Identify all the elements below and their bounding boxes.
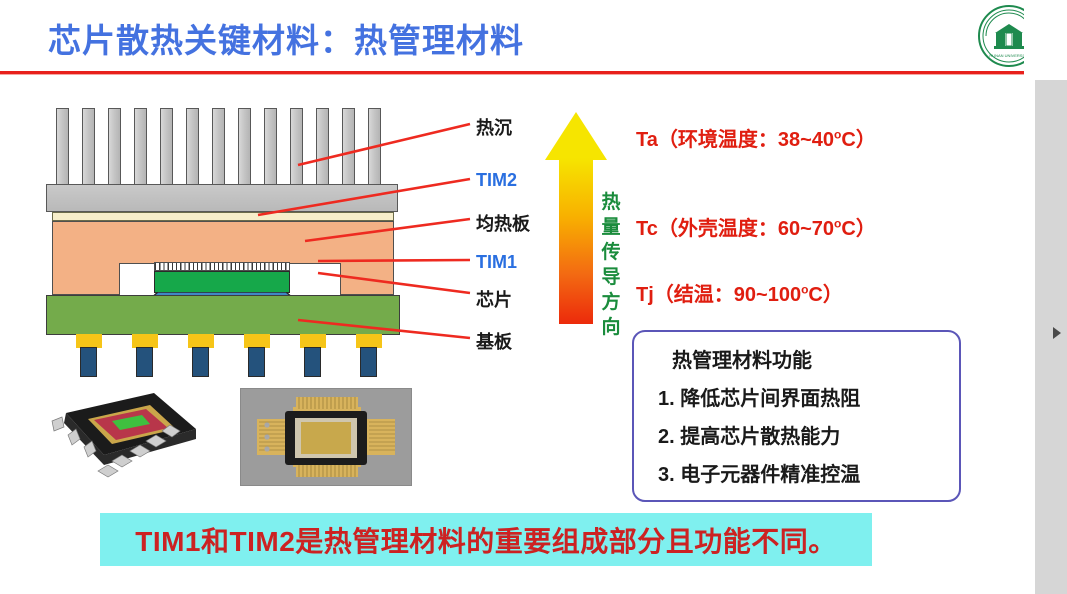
heatsink-fin bbox=[368, 108, 381, 186]
heatsink-fin bbox=[316, 108, 329, 186]
heatsink-fin bbox=[82, 108, 95, 186]
pin-shoulder bbox=[76, 334, 102, 348]
temp-junction-value: 90~100 bbox=[734, 284, 801, 306]
pin-shoulder bbox=[356, 334, 382, 348]
summary-banner: TIM1和TIM2是热管理材料的重要组成部分且功能不同。 bbox=[100, 513, 872, 566]
function-item-1: 1. 降低芯片间界面热阻 bbox=[658, 382, 860, 411]
slide-canvas: 芯片散热关键材料：热管理材料 HUNAN UNIVERSITY bbox=[0, 0, 1024, 594]
temp-ambient-value: 38~40 bbox=[778, 129, 834, 151]
heatsink-fin bbox=[108, 108, 121, 186]
label-spreader: 均热板 bbox=[476, 210, 530, 236]
heatsink-fin bbox=[186, 108, 199, 186]
temp-junction-desc: （结温： bbox=[654, 284, 734, 306]
title-divider bbox=[0, 71, 1024, 75]
summary-banner-text: TIM1和TIM2是热管理材料的重要组成部分且功能不同。 bbox=[135, 520, 837, 560]
temp-case-desc: （外壳温度： bbox=[658, 218, 778, 240]
soic-package-photo bbox=[46, 383, 214, 488]
heatsink-fin bbox=[238, 108, 251, 186]
pin-lead bbox=[304, 347, 321, 377]
label-substrate: 基板 bbox=[476, 328, 512, 354]
function-box: 热管理材料功能 1. 降低芯片间界面热阻 2. 提高芯片散热能力 3. 电子元器… bbox=[632, 330, 961, 502]
svg-text:HUNAN UNIVERSITY: HUNAN UNIVERSITY bbox=[989, 53, 1024, 58]
page-title: 芯片散热关键材料：热管理材料 bbox=[48, 14, 524, 62]
pin-shoulder bbox=[188, 334, 214, 348]
chip-package-cross-section bbox=[46, 108, 436, 373]
temp-ambient: Ta（环境温度：38~40oC） bbox=[636, 123, 876, 152]
pin-shoulder bbox=[132, 334, 158, 348]
temp-case-value: 60~70 bbox=[778, 218, 834, 240]
university-seal-logo: HUNAN UNIVERSITY bbox=[976, 3, 1024, 69]
label-tim2: TIM2 bbox=[476, 170, 517, 191]
heatsink-fin bbox=[134, 108, 147, 186]
heatsink-fin bbox=[212, 108, 225, 186]
heatsink-fin bbox=[160, 108, 173, 186]
ceramic-flat-package-photo bbox=[240, 388, 412, 486]
right-side-panel bbox=[1024, 0, 1067, 594]
label-tim1: TIM1 bbox=[476, 252, 517, 273]
temp-junction-symbol: Tj bbox=[636, 284, 654, 306]
pin-lead bbox=[136, 347, 153, 377]
temp-junction-suffix: C） bbox=[808, 284, 842, 306]
label-heat-sink: 热沉 bbox=[476, 114, 512, 140]
arrow-head bbox=[545, 112, 607, 160]
temp-ambient-symbol: Ta bbox=[636, 129, 658, 151]
arrow-shaft bbox=[559, 158, 593, 324]
heatsink-fin bbox=[290, 108, 303, 186]
temp-junction: Tj（结温：90~100oC） bbox=[636, 278, 843, 307]
temp-case-symbol: Tc bbox=[636, 218, 658, 240]
temp-ambient-desc: （环境温度： bbox=[658, 129, 778, 151]
heatsink-fin bbox=[342, 108, 355, 186]
temp-case-suffix: C） bbox=[841, 218, 875, 240]
function-item-2: 2. 提高芯片散热能力 bbox=[658, 420, 840, 449]
pin-lead bbox=[248, 347, 265, 377]
pin-shoulder bbox=[244, 334, 270, 348]
pin-lead bbox=[192, 347, 209, 377]
temp-ambient-suffix: C） bbox=[841, 129, 875, 151]
substrate-layer bbox=[46, 295, 400, 335]
tim1-layer bbox=[154, 262, 290, 271]
pin-shoulder bbox=[300, 334, 326, 348]
pin-lead bbox=[360, 347, 377, 377]
heatsink-base bbox=[46, 184, 398, 212]
heatsink-fin bbox=[264, 108, 277, 186]
side-panel-strip bbox=[1035, 80, 1067, 594]
function-box-title: 热管理材料功能 bbox=[672, 344, 812, 373]
die-layer bbox=[154, 271, 290, 293]
heatsink-fin bbox=[56, 108, 69, 186]
expand-caret-icon[interactable] bbox=[1053, 327, 1061, 339]
tim2-layer bbox=[52, 212, 394, 221]
heat-direction-label: 热量传导方向 bbox=[598, 190, 624, 340]
pin-lead bbox=[80, 347, 97, 377]
label-die: 芯片 bbox=[476, 286, 512, 312]
function-item-3: 3. 电子元器件精准控温 bbox=[658, 458, 860, 487]
temp-case: Tc（外壳温度：60~70oC） bbox=[636, 212, 876, 241]
